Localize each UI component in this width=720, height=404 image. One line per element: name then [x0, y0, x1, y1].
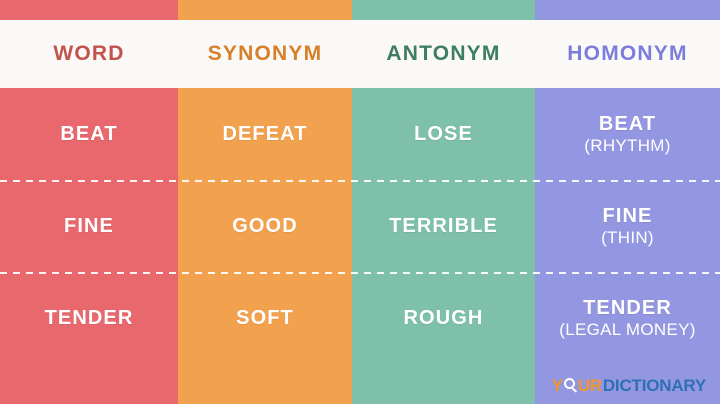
cell-main-text: GOOD — [232, 215, 298, 237]
cell-word-1: BEAT — [0, 88, 178, 180]
cell-sub-text: (THIN) — [601, 228, 654, 248]
table-body: BEAT DEFEAT LOSE BEAT (RHYTHM) FINE GOOD… — [0, 88, 720, 362]
cell-word-3: TENDER — [0, 272, 178, 364]
magnifying-glass-icon — [563, 378, 578, 393]
column-header-word: WORD — [0, 20, 178, 88]
cell-antonym-2: TERRIBLE — [352, 180, 535, 272]
column-header-homonym: HOMONYM — [535, 20, 720, 88]
cell-homonym-1: BEAT (RHYTHM) — [535, 88, 720, 180]
cell-main-text: BEAT — [60, 123, 117, 145]
synonym-antonym-homonym-table: WORD SYNONYM ANTONYM HOMONYM BEAT DEFEAT… — [0, 0, 720, 404]
cell-sub-text: (RHYTHM) — [584, 136, 670, 156]
table-row: BEAT DEFEAT LOSE BEAT (RHYTHM) — [0, 88, 720, 180]
cell-main-text: SOFT — [236, 307, 294, 329]
cell-main-text: TENDER — [45, 307, 134, 329]
cell-synonym-1: DEFEAT — [178, 88, 352, 180]
cell-word-2: FINE — [0, 180, 178, 272]
cell-main-text: TERRIBLE — [389, 215, 498, 237]
cell-main-text: DEFEAT — [222, 123, 307, 145]
logo-text-y: Y — [552, 377, 563, 394]
cell-synonym-2: GOOD — [178, 180, 352, 272]
cell-main-text: FINE — [64, 215, 114, 237]
cell-homonym-2: FINE (THIN) — [535, 180, 720, 272]
cell-main-text: BEAT — [599, 113, 656, 135]
table-row: TENDER SOFT ROUGH TENDER (LEGAL MONEY) — [0, 272, 720, 364]
cell-main-text: FINE — [603, 205, 653, 227]
column-header-antonym: ANTONYM — [352, 20, 535, 88]
table-header-row: WORD SYNONYM ANTONYM HOMONYM — [0, 20, 720, 88]
yourdictionary-logo[interactable]: Y UR DICTIONARY — [552, 374, 706, 396]
cell-synonym-3: SOFT — [178, 272, 352, 364]
cell-main-text: LOSE — [414, 123, 473, 145]
cell-antonym-1: LOSE — [352, 88, 535, 180]
logo-text-ur: UR — [578, 377, 602, 394]
cell-homonym-3: TENDER (LEGAL MONEY) — [535, 272, 720, 364]
column-header-synonym: SYNONYM — [178, 20, 352, 88]
cell-antonym-3: ROUGH — [352, 272, 535, 364]
cell-sub-text: (LEGAL MONEY) — [559, 320, 695, 340]
cell-main-text: TENDER — [583, 297, 672, 319]
cell-main-text: ROUGH — [404, 307, 484, 329]
table-row: FINE GOOD TERRIBLE FINE (THIN) — [0, 180, 720, 272]
logo-text-dictionary: DICTIONARY — [603, 377, 706, 394]
